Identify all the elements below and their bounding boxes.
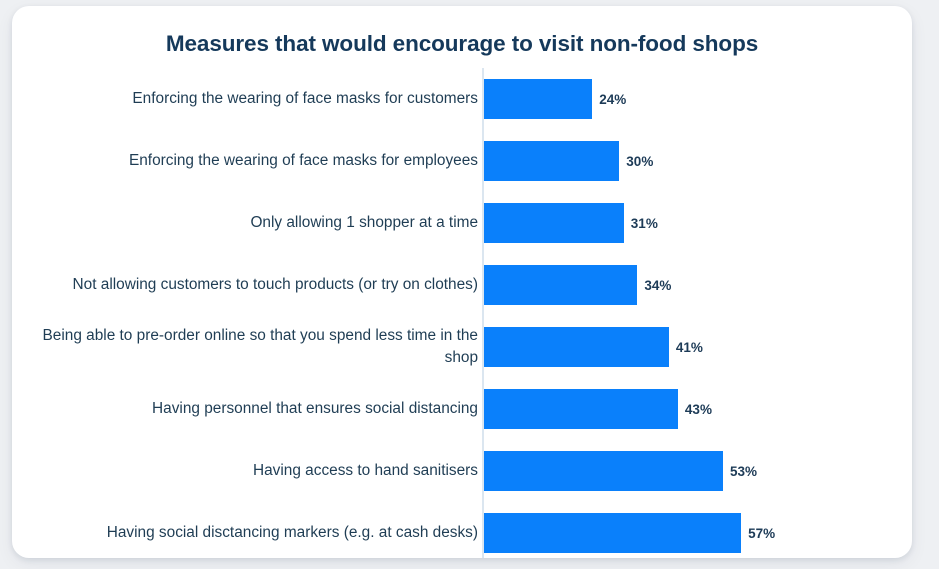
bar-category-label: Enforcing the wearing of face masks for …	[28, 68, 478, 130]
bar-container: 57%	[484, 502, 912, 558]
bar-value-label: 43%	[685, 402, 712, 417]
bar-value-label: 34%	[644, 278, 671, 293]
bar-row: Only allowing 1 shopper at a time31%	[12, 192, 912, 254]
bar-value-label: 53%	[730, 464, 757, 479]
bar-category-label-text: Having personnel that ensures social dis…	[28, 398, 478, 420]
bar-category-label-text: Being able to pre-order online so that y…	[28, 325, 478, 369]
bar-category-label-text: Having social disctancing markers (e.g. …	[28, 522, 478, 544]
bar-row: Being able to pre-order online so that y…	[12, 316, 912, 378]
bar-value-label: 31%	[631, 216, 658, 231]
bar-value-label: 41%	[676, 340, 703, 355]
bar[interactable]	[484, 513, 741, 553]
bar[interactable]	[484, 79, 592, 119]
bar-rows: Enforcing the wearing of face masks for …	[12, 68, 912, 558]
bar-category-label: Having access to hand sanitisers	[28, 440, 478, 502]
bar-category-label-text: Not allowing customers to touch products…	[28, 274, 478, 296]
bar[interactable]	[484, 141, 619, 181]
chart-plot-area: Enforcing the wearing of face masks for …	[12, 68, 912, 558]
bar-container: 24%	[484, 68, 912, 130]
bar-container: 31%	[484, 192, 912, 254]
bar-value-label: 30%	[626, 154, 653, 169]
bar-row: Having access to hand sanitisers53%	[12, 440, 912, 502]
bar-category-label-text: Enforcing the wearing of face masks for …	[28, 88, 478, 110]
bar[interactable]	[484, 327, 669, 367]
bar-category-label-text: Having access to hand sanitisers	[28, 460, 478, 482]
bar[interactable]	[484, 203, 624, 243]
bar-container: 41%	[484, 316, 912, 378]
bar-container: 53%	[484, 440, 912, 502]
bar-container: 34%	[484, 254, 912, 316]
chart-title: Measures that would encourage to visit n…	[12, 31, 912, 57]
bar-category-label: Only allowing 1 shopper at a time	[28, 192, 478, 254]
chart-card: Measures that would encourage to visit n…	[12, 6, 912, 558]
bar-row: Not allowing customers to touch products…	[12, 254, 912, 316]
bar-row: Enforcing the wearing of face masks for …	[12, 68, 912, 130]
bar[interactable]	[484, 265, 637, 305]
bar-category-label: Not allowing customers to touch products…	[28, 254, 478, 316]
bar-container: 43%	[484, 378, 912, 440]
bar-container: 30%	[484, 130, 912, 192]
bar-category-label: Being able to pre-order online so that y…	[28, 316, 478, 378]
bar-category-label-text: Only allowing 1 shopper at a time	[28, 212, 478, 234]
bar-category-label: Having personnel that ensures social dis…	[28, 378, 478, 440]
bar[interactable]	[484, 451, 723, 491]
bar-category-label-text: Enforcing the wearing of face masks for …	[28, 150, 478, 172]
bar-value-label: 24%	[599, 92, 626, 107]
bar[interactable]	[484, 389, 678, 429]
chart-page: Measures that would encourage to visit n…	[0, 0, 939, 569]
bar-row: Enforcing the wearing of face masks for …	[12, 130, 912, 192]
bar-category-label: Enforcing the wearing of face masks for …	[28, 130, 478, 192]
bar-category-label: Having social disctancing markers (e.g. …	[28, 502, 478, 558]
bar-row: Having personnel that ensures social dis…	[12, 378, 912, 440]
bar-value-label: 57%	[748, 526, 775, 541]
bar-row: Having social disctancing markers (e.g. …	[12, 502, 912, 558]
